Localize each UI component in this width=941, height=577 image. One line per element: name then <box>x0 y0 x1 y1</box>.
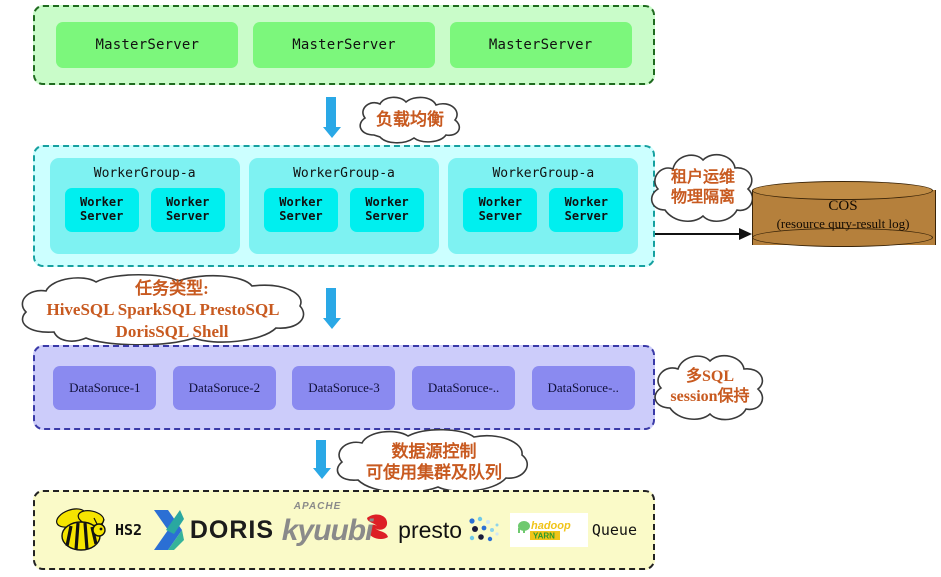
worker-server-line2: Server <box>279 210 322 224</box>
worker-group[interactable]: WorkerGroup-a Worker Server Worker Serve… <box>50 158 240 254</box>
svg-text:YARN: YARN <box>533 532 555 541</box>
callout-line: 多SQL <box>686 367 734 387</box>
callout-line: 数据源控制 <box>392 441 477 462</box>
hadoop-yarn-logo-icon: hadoop YARN <box>516 517 582 543</box>
datasource-box[interactable]: DataSoruce-1 <box>53 366 156 410</box>
worker-group-title: WorkerGroup-a <box>492 166 594 181</box>
kyuubi-label: kyuubi <box>282 514 373 547</box>
engine-doris[interactable]: DORIS <box>150 507 274 553</box>
worker-server-line1: Worker <box>80 196 123 210</box>
worker-group-title: WorkerGroup-a <box>94 166 196 181</box>
callout-line: 任务类型: <box>135 278 209 299</box>
worker-row: Worker Server Worker Server <box>463 188 623 232</box>
presto-label: presto <box>398 517 462 544</box>
engine-kyuubi[interactable]: APACHE kyuubi <box>282 512 391 548</box>
datasource-layer: DataSoruce-1 DataSoruce-2 DataSoruce-3 D… <box>33 345 655 430</box>
arrow-master-to-worker <box>323 97 339 138</box>
arrow-datasource-to-engine <box>313 440 329 479</box>
worker-server-line1: Worker <box>565 196 608 210</box>
worker-server[interactable]: Worker Server <box>350 188 424 232</box>
worker-server[interactable]: Worker Server <box>463 188 537 232</box>
callout-line: DorisSQL Shell <box>116 321 229 342</box>
apache-doris-icon <box>150 507 186 553</box>
svg-text:hadoop: hadoop <box>531 520 571 532</box>
apache-hive-bee-icon <box>51 506 111 554</box>
callout-line: 负载均衡 <box>376 109 444 130</box>
presto-icon <box>466 515 502 545</box>
worker-server-line1: Worker <box>166 196 209 210</box>
cos-labels: COS (resource qury-result log) <box>752 198 934 232</box>
datasource-box[interactable]: DataSoruce-3 <box>292 366 395 410</box>
master-server-box[interactable]: MasterServer <box>56 22 238 68</box>
worker-server-line2: Server <box>80 210 123 224</box>
worker-server-line2: Server <box>166 210 209 224</box>
arrow-worker-to-datasource <box>323 288 339 329</box>
hadoop-yarn-icon: hadoop YARN <box>510 513 588 547</box>
worker-server-line1: Worker <box>479 196 522 210</box>
master-server-box[interactable]: MasterServer <box>450 22 632 68</box>
worker-group-layer: WorkerGroup-a Worker Server Worker Serve… <box>33 145 655 267</box>
worker-server[interactable]: Worker Server <box>151 188 225 232</box>
worker-server-line1: Worker <box>279 196 322 210</box>
worker-row: Worker Server Worker Server <box>65 188 225 232</box>
worker-group[interactable]: WorkerGroup-a Worker Server Worker Serve… <box>448 158 638 254</box>
cos-subtitle: (resource qury-result log) <box>752 216 934 232</box>
worker-group[interactable]: WorkerGroup-a Worker Server Worker Serve… <box>249 158 439 254</box>
callout-datasource-control: 数据源控制 可使用集群及队列 <box>330 428 538 496</box>
yarn-queue-label: Queue <box>592 521 637 539</box>
worker-server-line2: Server <box>479 210 522 224</box>
engine-yarn-queue[interactable]: hadoop YARN Queue <box>510 513 637 547</box>
callout-line: HiveSQL SparkSQL PrestoSQL <box>46 299 279 320</box>
worker-server-line2: Server <box>365 210 408 224</box>
callout-tenant-isolation: 租户运维 物理隔离 <box>645 146 761 230</box>
cos-storage[interactable]: COS (resource qury-result log) <box>752 181 934 254</box>
engine-presto[interactable]: presto <box>398 515 502 545</box>
hive-hs2-label: HS2 <box>115 521 142 539</box>
cos-title: COS <box>752 198 934 215</box>
callout-multi-sql-session: 多SQL session保持 <box>648 348 772 426</box>
datasource-box[interactable]: DataSoruce-.. <box>532 366 635 410</box>
kyuubi-apache-label: APACHE <box>294 501 341 512</box>
engine-hive[interactable]: HS2 <box>51 506 142 554</box>
doris-label: DORIS <box>190 516 274 545</box>
worker-server[interactable]: Worker Server <box>264 188 338 232</box>
datasource-box[interactable]: DataSoruce-.. <box>412 366 515 410</box>
callout-line: 可使用集群及队列 <box>366 462 502 483</box>
worker-server[interactable]: Worker Server <box>65 188 139 232</box>
callout-line: 物理隔离 <box>671 188 735 208</box>
master-server-layer: MasterServer MasterServer MasterServer <box>33 5 655 85</box>
callout-line: session保持 <box>670 387 749 407</box>
callout-line: 租户运维 <box>671 168 735 188</box>
worker-server[interactable]: Worker Server <box>549 188 623 232</box>
worker-server-line2: Server <box>565 210 608 224</box>
datasource-box[interactable]: DataSoruce-2 <box>173 366 276 410</box>
callout-load-balance: 负载均衡 <box>352 94 468 146</box>
worker-group-title: WorkerGroup-a <box>293 166 395 181</box>
master-server-box[interactable]: MasterServer <box>253 22 435 68</box>
worker-server-line1: Worker <box>365 196 408 210</box>
worker-row: Worker Server Worker Server <box>264 188 424 232</box>
execution-engine-layer: HS2 DORIS APACHE kyuubi presto <box>33 490 655 570</box>
callout-task-types: 任务类型: HiveSQL SparkSQL PrestoSQL DorisSQ… <box>14 272 312 348</box>
